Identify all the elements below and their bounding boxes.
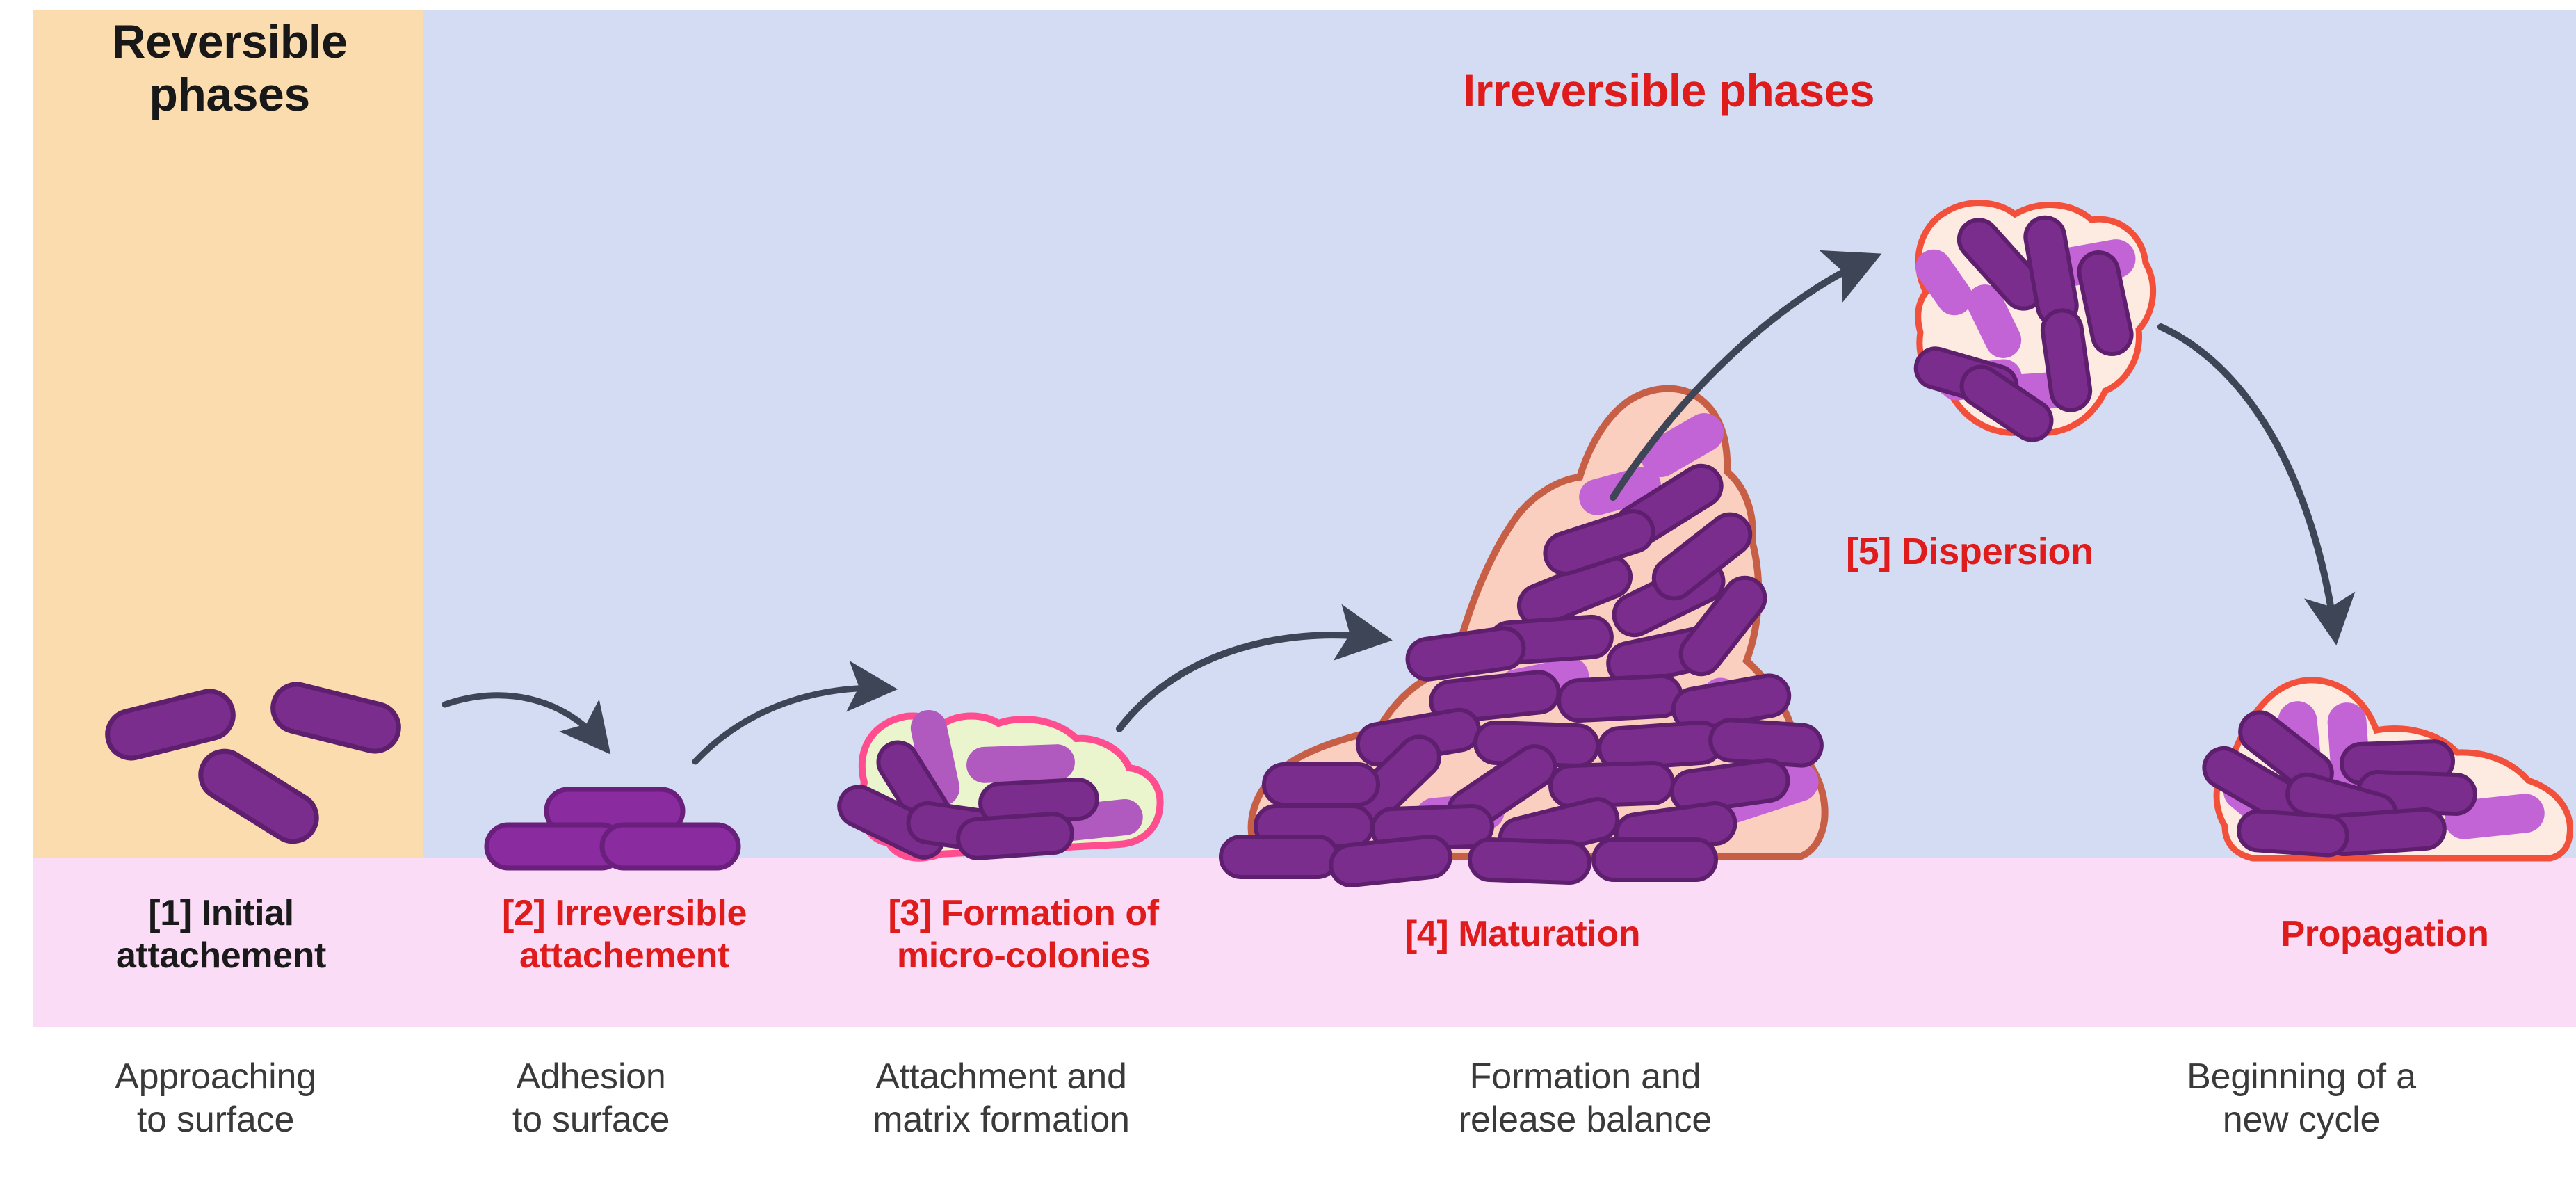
stage-2-label-line-1: [2] Irreversible (423, 892, 826, 935)
irreversible-phases-heading: Irreversible phases (1300, 64, 2037, 117)
stage-1-label-line-1: [1] Initial (19, 892, 423, 935)
caption-2-line-2: to surface (424, 1098, 758, 1141)
stage-1-label-line-2: attachement (19, 935, 423, 977)
stage-label-maturation: [4] Maturation (1321, 913, 1724, 956)
caption-5-line-2: new cycle (2079, 1098, 2524, 1141)
caption-2-line-1: Adhesion (424, 1055, 758, 1098)
caption-formation-release-balance: Formation and release balance (1356, 1055, 1815, 1142)
reversible-heading-line-2: phases (42, 68, 417, 121)
stage-label-microcolony-formation: [3] Formation of micro-colonies (822, 892, 1225, 977)
stage-label-propagation: Propagation (2183, 913, 2576, 956)
caption-approaching-to-surface: Approaching to surface (21, 1055, 410, 1142)
irreversible-phase-band (423, 10, 2576, 858)
reversible-heading-line-1: Reversible (42, 15, 417, 68)
stage-4-label-line-1: [4] Maturation (1321, 913, 1724, 956)
stage-3-label-line-1: [3] Formation of (822, 892, 1225, 935)
caption-5-line-1: Beginning of a (2079, 1055, 2524, 1098)
caption-attachment-matrix-formation: Attachment and matrix formation (772, 1055, 1231, 1142)
stage-3-label-line-2: micro-colonies (822, 935, 1225, 977)
reversible-phases-heading: Reversible phases (42, 15, 417, 121)
caption-1-line-2: to surface (21, 1098, 410, 1141)
stage-propagation-label-line-1: Propagation (2183, 913, 2576, 956)
reversible-phase-band (33, 10, 423, 858)
caption-4-line-1: Formation and (1356, 1055, 1815, 1098)
biofilm-diagram: Reversible phases Irreversible phases (0, 0, 2576, 1190)
caption-3-line-1: Attachment and (772, 1055, 1231, 1098)
caption-3-line-2: matrix formation (772, 1098, 1231, 1141)
caption-1-line-1: Approaching (21, 1055, 410, 1098)
caption-4-line-2: release balance (1356, 1098, 1815, 1141)
stage-label-irreversible-attachment: [2] Irreversible attachement (423, 892, 826, 977)
stage-label-initial-attachment: [1] Initial attachement (19, 892, 423, 977)
dispersion-label: [5] Dispersion (1846, 530, 2194, 573)
caption-adhesion-to-surface: Adhesion to surface (424, 1055, 758, 1142)
caption-beginning-of-new-cycle: Beginning of a new cycle (2079, 1055, 2524, 1142)
stage-2-label-line-2: attachement (423, 935, 826, 977)
